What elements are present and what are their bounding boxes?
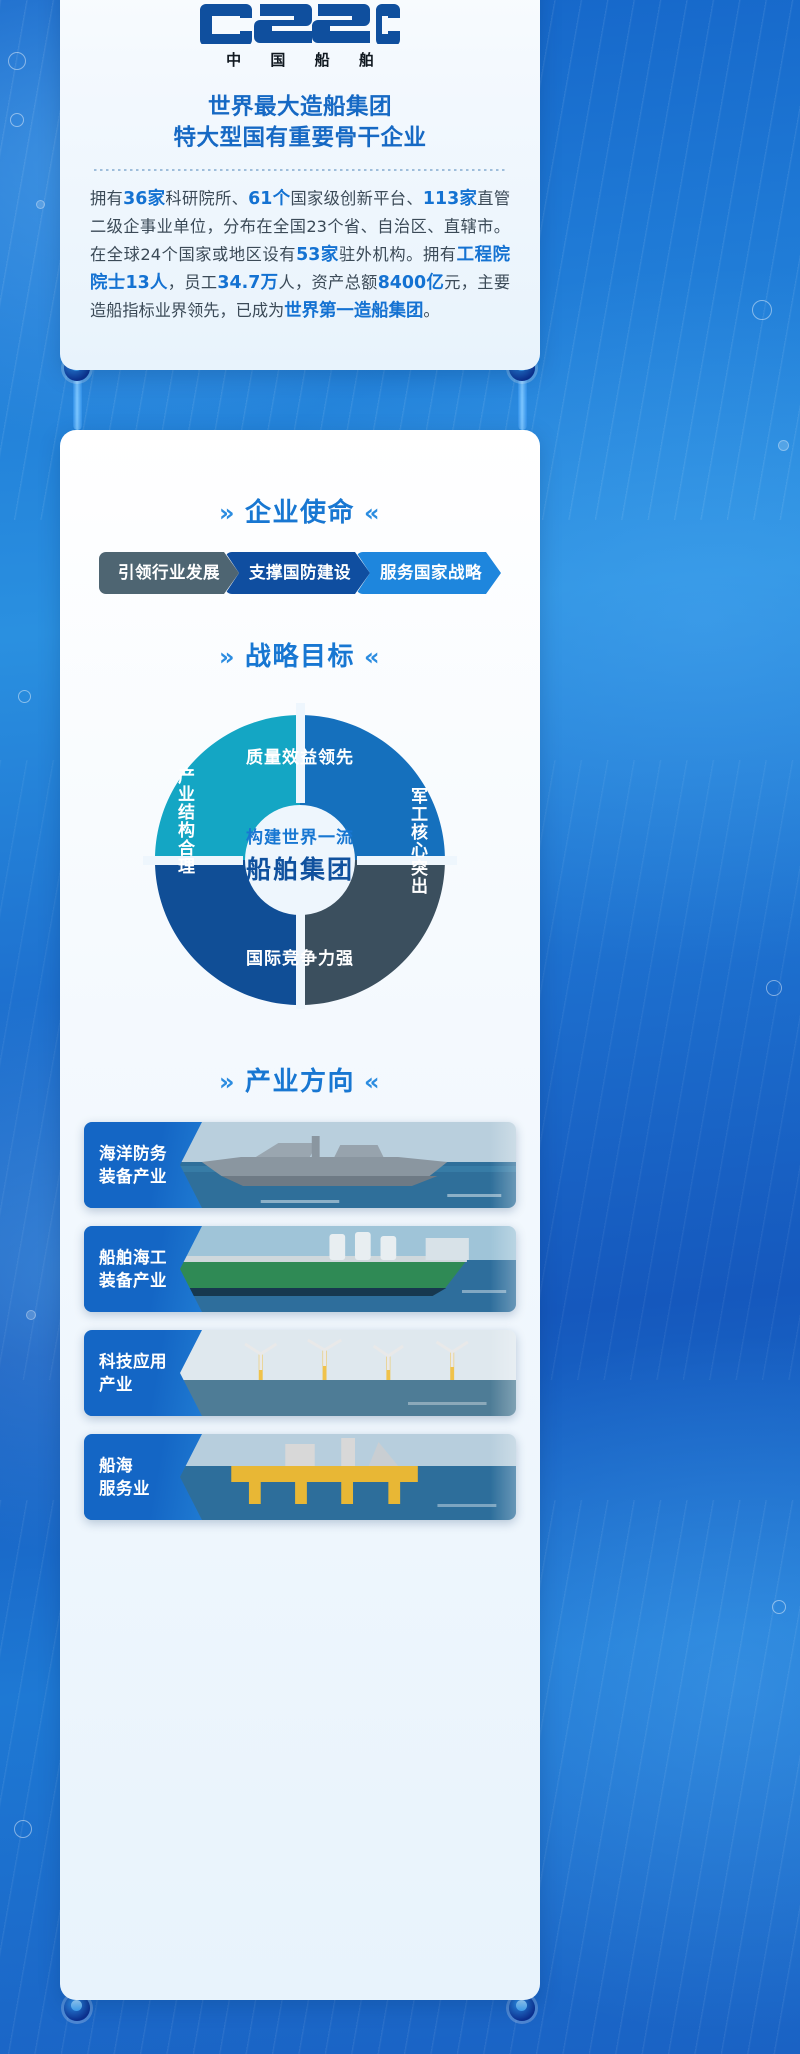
strategy-center-top: 构建世界一流 — [135, 823, 465, 848]
intro-card: 中 国 船 舶 世界最大造船集团 特大型国有重要骨干企业 拥有36家科研院所、6… — [60, 0, 540, 370]
page-title: 世界最大造船集团 特大型国有重要骨干企业 — [60, 92, 540, 154]
mission-arrow-1[interactable]: 引领行业发展 — [99, 552, 239, 594]
stat-highlight: 36家 — [123, 189, 165, 209]
mission-arrow-3[interactable]: 服务国家战略 — [356, 552, 501, 594]
section-title-mission: »企业使命« — [60, 492, 540, 529]
section-title-strategy: »战略目标« — [60, 636, 540, 673]
strategy-title-text: 战略目标 — [245, 642, 355, 672]
chevron-left-icon: » — [210, 1068, 245, 1096]
paragraph-text: 驻外机构。拥有 — [339, 245, 457, 264]
stat-highlight: 61个 — [248, 189, 290, 209]
logo-subtitle: 中 国 船 舶 — [60, 49, 540, 70]
bubble-decor — [766, 980, 782, 996]
strategy-center-main: 船舶集团 — [135, 850, 465, 886]
bubble-decor — [18, 690, 31, 703]
mission-title-text: 企业使命 — [245, 498, 355, 528]
mission-arrow-list: 引领行业发展支撑国防建设服务国家战略 — [60, 552, 540, 594]
industry-title-text: 产业方向 — [245, 1067, 355, 1097]
mission-arrow-label: 服务国家战略 — [380, 563, 482, 582]
chevron-left-icon: » — [210, 499, 245, 527]
industry-row-3[interactable]: 科技应用产业 — [84, 1330, 516, 1416]
industry-row-4[interactable]: 船海服务业 — [84, 1434, 516, 1520]
paragraph-text: ，员工 — [168, 273, 218, 292]
industry-row-list: 海洋防务装备产业 船舶海工装备产业 科技应用产业 — [60, 1122, 540, 1520]
content-card: »企业使命« 引领行业发展支撑国防建设服务国家战略 »战略目标« — [60, 430, 540, 2000]
paragraph-text: 。 — [423, 301, 439, 320]
paragraph-text: 科研院所、 — [165, 189, 248, 208]
bubble-decor — [752, 300, 772, 320]
mission-arrow-label: 支撑国防建设 — [249, 563, 351, 582]
paragraph-text: 国家级创新平台、 — [290, 189, 422, 208]
industry-row-1[interactable]: 海洋防务装备产业 — [84, 1122, 516, 1208]
headline-line-1: 世界最大造船集团 — [60, 92, 540, 123]
chevron-left-icon: » — [210, 643, 245, 671]
chevron-right-icon: « — [355, 643, 390, 671]
bubble-decor — [778, 440, 789, 451]
industry-row-2[interactable]: 船舶海工装备产业 — [84, 1226, 516, 1312]
chevron-right-icon: « — [355, 1068, 390, 1096]
bubble-decor — [36, 200, 45, 209]
bubble-decor — [10, 113, 24, 127]
divider-dotted — [94, 169, 506, 171]
section-title-industry: »产业方向« — [60, 1061, 540, 1098]
intro-paragraph: 拥有36家科研院所、61个国家级创新平台、113家直管二级企事业单位，分布在全国… — [90, 185, 510, 325]
bubble-decor — [26, 1310, 36, 1320]
strategy-wheel: 质量效益领先 军工核心突出 国际竞争力强 产业结构合理 构建世界一流 船舶集团 — [135, 695, 465, 1015]
stat-highlight: 53家 — [296, 245, 339, 265]
stat-highlight: 113家 — [423, 189, 477, 209]
stat-highlight: 8400亿 — [378, 273, 445, 293]
paragraph-text: 拥有 — [90, 189, 123, 208]
logo-block: 中 国 船 舶 — [60, 0, 540, 70]
mission-arrow-label: 引领行业发展 — [118, 563, 220, 582]
bubble-decor — [8, 52, 26, 70]
strategy-label-bottom: 国际竞争力强 — [135, 944, 465, 969]
cssc-logo-icon — [60, 2, 540, 44]
mission-arrow-2[interactable]: 支撑国防建设 — [225, 552, 370, 594]
strategy-label-top: 质量效益领先 — [135, 743, 465, 768]
bubble-decor — [772, 1600, 786, 1614]
stat-highlight: 34.7万 — [217, 273, 278, 293]
strategy-center-text: 构建世界一流 船舶集团 — [135, 823, 465, 886]
paragraph-text: 人，资产总额 — [278, 273, 377, 292]
bubble-decor — [14, 1820, 32, 1838]
stat-highlight: 世界第一造船集团 — [284, 301, 423, 321]
chevron-right-icon: « — [355, 499, 390, 527]
headline-line-2: 特大型国有重要骨干企业 — [60, 123, 540, 154]
